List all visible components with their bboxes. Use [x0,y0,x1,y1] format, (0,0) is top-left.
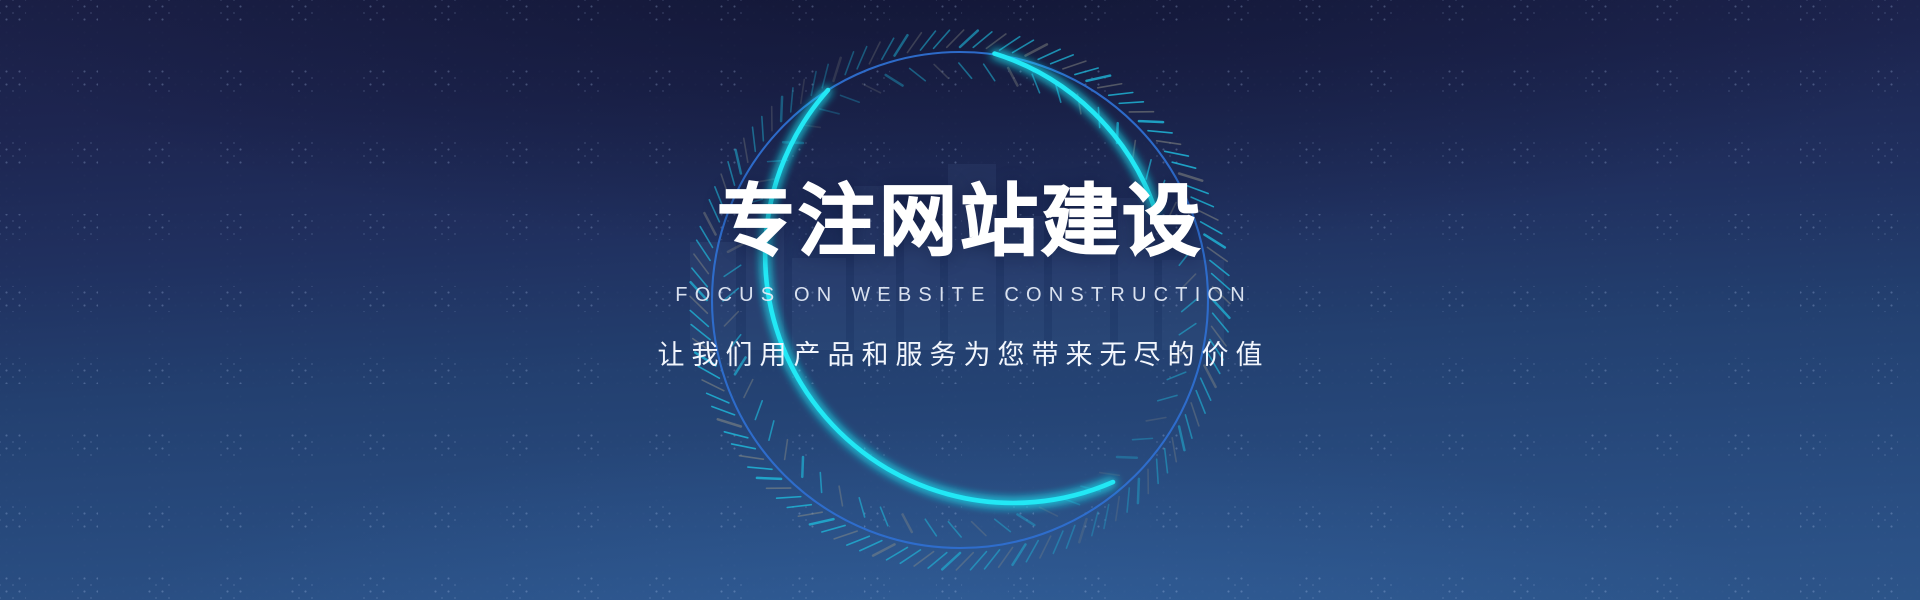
ring-tick [1201,378,1211,400]
ring-tick [1017,514,1034,525]
ring-tick [822,64,828,87]
ring-tick [781,97,782,121]
ring-tick [942,553,960,569]
ring-tick [732,444,756,449]
ring-tick [1081,486,1100,491]
ring-tick [986,34,1005,48]
ring-tick [1165,151,1189,156]
ring-tick [1213,313,1228,332]
page-title: 专注网站建设 [0,182,1920,262]
ring-tick [1092,512,1098,535]
ring-tick [1055,83,1060,102]
ring-tick [690,296,707,313]
ring-tick [754,179,774,182]
ring-tick [1051,55,1074,64]
ring-tick [1212,326,1226,345]
ring-tick [1207,353,1219,374]
ring-tick [934,30,950,48]
ring-tick [860,541,882,551]
ring-tick [1196,391,1205,414]
ring-tick [702,380,724,391]
ring-tick [728,162,735,185]
ring-tick [1179,250,1191,266]
ring-tick [1201,222,1222,234]
ring-tick [834,531,857,539]
ring-tick [1098,84,1122,88]
ring-tick [1204,235,1224,248]
ring-tick [820,109,839,114]
ring-tick [1104,505,1109,529]
ring-tick [723,288,738,301]
ring-tick [1167,203,1176,221]
ring-tick [1053,531,1063,553]
ring-tick [801,125,821,128]
ring-tick [934,64,948,78]
ring-tick-marks [690,30,1230,570]
ring-tick [698,366,719,378]
ring-tick [1127,488,1129,512]
ring-tick [847,536,870,545]
ring-tick [744,138,748,162]
ring-tick [801,79,805,103]
ring-arc-top-right [995,54,1156,211]
ring-tick [959,63,972,78]
ring-tick [712,406,735,414]
ring-tick [1061,498,1080,505]
ring-tick [985,550,1000,569]
ring-tick [762,117,764,141]
ring-tick [1182,299,1197,312]
ring-base-circle [712,52,1208,548]
ring-tick [1174,348,1192,357]
ring-tick [791,88,793,112]
ring-tick [748,467,772,469]
ring-tick [697,240,710,260]
ring-tick [882,38,894,59]
ring-tick [839,486,842,506]
ring-tick [810,519,834,524]
ring-tick [1075,68,1098,75]
ring-tick [973,32,992,47]
ring-tick [845,52,853,75]
ring-tick [769,421,774,440]
ring-tick [1213,287,1230,304]
ring-tick [1133,141,1136,161]
ring-tick [984,64,995,81]
ring-tick [1207,247,1227,261]
ring-tick [895,35,908,55]
ring-tick [1179,324,1196,335]
ring-tick [724,312,738,326]
ring-tick [1146,160,1151,179]
ring-tick [753,127,756,151]
ring-tick [1109,93,1133,96]
ring-tick [1158,395,1177,400]
ring-tick [1078,94,1081,114]
ring-tick [925,519,936,536]
ring-tick [691,282,707,300]
ring-tick [1172,438,1176,462]
ring-tick [734,220,753,227]
ring-tick [970,552,986,570]
subtitle-english: FOCUS ON WEBSITE CONSTRUCTION [0,284,1920,307]
ring-tick [822,525,845,532]
ring-tick [1210,260,1229,275]
ring-tick [1196,209,1218,220]
ring-tick [859,498,864,517]
ring-tick [834,58,841,81]
ring-tick [920,31,935,50]
ring-tick [1165,449,1168,473]
ring-tick [900,550,920,563]
ring-tick [695,353,715,366]
background-vignette [0,0,1920,600]
hero-copy: 专注网站建设 FOCUS ON WEBSITE CONSTRUCTION 让我们… [0,182,1920,372]
ring-tick [690,310,708,326]
ring-tick [1172,162,1195,168]
ring-tick [1013,40,1034,52]
ring-tick [721,174,729,197]
ring-tick [1179,427,1184,451]
ring-tick [1212,274,1230,290]
ring-tick [1146,418,1166,421]
ring-tick [777,497,801,499]
ring-tick [820,473,821,493]
ring-tick [694,254,708,273]
ring-tick [1167,372,1186,379]
ring-tick [757,478,781,479]
ring-tick [1213,300,1229,318]
ring-tick [887,547,908,559]
ring-tick [1179,174,1202,181]
ring-tick [1100,473,1120,476]
ring-tick [1008,68,1017,86]
ring-tick [1191,197,1213,207]
ring-tick [1098,108,1099,128]
ring-tick [1116,497,1120,521]
ring-tick [1139,121,1163,122]
ring-tick [873,544,894,555]
ring-tick [735,357,746,374]
ring-tick [903,514,912,532]
ring-tick [736,150,741,174]
ring-tick [1000,37,1020,50]
ring-tick [869,42,880,64]
ring-tick [948,522,961,537]
ring-tick [1185,415,1192,438]
ring-tick [972,522,986,536]
ring-tick [995,519,1011,531]
ring-tick [1138,479,1139,503]
ring-tick [785,440,788,460]
ring-tick [1191,403,1199,426]
ring-tick [841,95,860,102]
ring-tick [1185,185,1208,193]
ring-tick [1066,525,1074,548]
ring-tick [999,547,1013,567]
ring-tick [1079,519,1086,542]
ring-tick [947,30,964,47]
ring-tick [910,68,926,80]
ring-tick [1063,61,1086,69]
ring-tick [692,268,707,287]
ring-tick [857,47,867,69]
ring-tick [1157,459,1159,483]
ring-tick [1040,507,1058,516]
ring-tick [811,72,816,96]
ring-tick [744,380,753,398]
ring-tick [783,142,803,143]
ring-tick [1032,74,1039,93]
ring-tick [709,200,719,222]
ring-tick [956,553,973,570]
ring-tick [1158,181,1165,200]
decorative-ring [650,0,1270,600]
ring-tick [739,456,763,460]
ring-tick [960,31,978,47]
ring-tick [802,457,803,477]
ring-tick [1210,340,1223,360]
ring-tick [768,160,788,161]
ring-tick [880,507,887,526]
ring-tick [1148,131,1172,133]
ring-tick [715,187,724,210]
ring-tick [724,432,747,438]
ring-tick [728,335,740,351]
ring-tick [728,243,746,252]
city-skyline-silhouette [650,150,1270,350]
ring-tick [718,419,741,426]
ring-tick [1119,102,1143,104]
ring-tick [787,505,811,508]
ring-tick [1087,76,1111,81]
ring-tick [691,325,710,340]
background-dot-pattern [0,0,1920,600]
ring-tick [700,227,712,248]
ring-tick [928,553,947,568]
ring-tick [863,84,881,93]
ring-tick [1174,226,1185,243]
ring-tick [1133,438,1153,439]
ring-tick [907,33,921,53]
ring-tick [798,512,822,516]
ring-tick [743,199,762,204]
ring-tick [1026,541,1038,562]
ring-tick [1013,544,1026,564]
ring-tick [886,75,903,86]
ring-tick [704,213,715,234]
ring-accent-arcs [765,54,1155,503]
hero-banner: 专注网站建设 FOCUS ON WEBSITE CONSTRUCTION 让我们… [0,0,1920,600]
ring-arc-bottom-left [765,90,1113,503]
ring-tick [1117,457,1137,458]
ring-tick [1204,365,1215,386]
ring-tick [724,265,741,276]
ring-tick [1038,49,1060,59]
ring-tick [1040,536,1051,558]
ring-tick [1117,123,1118,143]
ring-tick [914,552,933,566]
ring-tick [1157,141,1181,145]
ring-tick [707,393,729,403]
ring-tick [1182,274,1196,288]
ring-tick [755,401,762,420]
tagline-chinese: 让我们用产品和服务为您带来无尽的价值 [0,333,1920,372]
ring-tick [1025,44,1046,55]
ring-tick [693,339,713,353]
